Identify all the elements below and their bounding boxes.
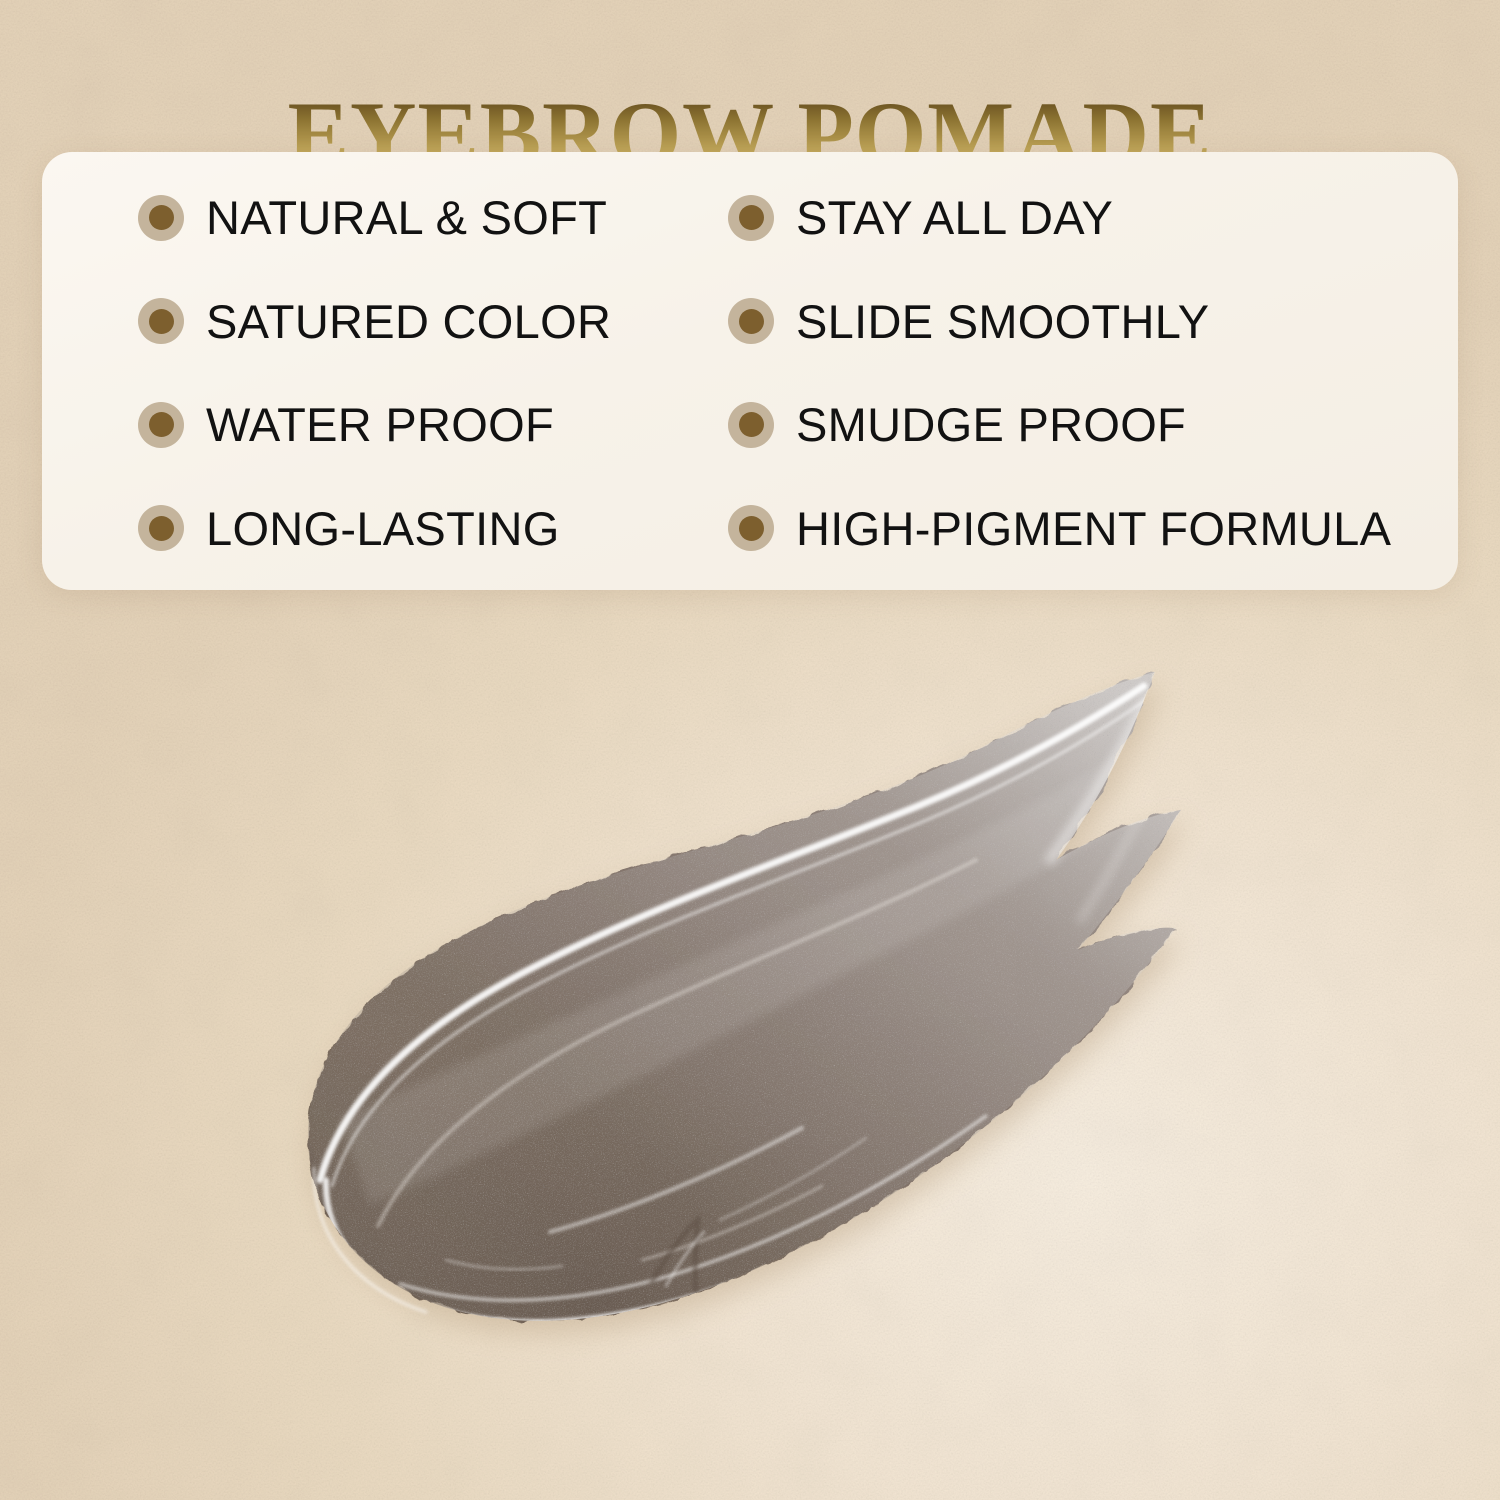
swatch-surface-detail	[250, 620, 1344, 1500]
pomade-cream-swatch	[250, 620, 1310, 1500]
feature-item-high-pigment-formula: HIGH-PIGMENT FORMULA	[654, 501, 1458, 556]
bullet-dot-icon	[728, 298, 774, 344]
bullet-dot-icon	[728, 402, 774, 448]
feature-label: STAY ALL DAY	[796, 190, 1113, 245]
feature-item-long-lasting: LONG-LASTING	[42, 501, 654, 556]
feature-list-card: NATURAL & SOFT STAY ALL DAY SATURED COLO…	[42, 152, 1458, 590]
feature-label: SLIDE SMOOTHLY	[796, 294, 1209, 349]
bullet-dot-icon	[728, 195, 774, 241]
bullet-dot-icon	[138, 402, 184, 448]
feature-label: SATURED COLOR	[206, 294, 611, 349]
product-feature-graphic: EYEBROW POMADE NATURAL & SOFT STAY ALL D…	[0, 0, 1500, 1500]
bullet-dot-icon	[728, 505, 774, 551]
bullet-dot-icon	[138, 505, 184, 551]
feature-label: NATURAL & SOFT	[206, 190, 607, 245]
feature-label: LONG-LASTING	[206, 501, 560, 556]
feature-item-stay-all-day: STAY ALL DAY	[654, 190, 1458, 245]
feature-item-water-proof: WATER PROOF	[42, 397, 654, 452]
feature-grid: NATURAL & SOFT STAY ALL DAY SATURED COLO…	[42, 152, 1458, 590]
feature-label: HIGH-PIGMENT FORMULA	[796, 501, 1391, 556]
feature-item-natural-soft: NATURAL & SOFT	[42, 190, 654, 245]
feature-label: WATER PROOF	[206, 397, 554, 452]
bullet-dot-icon	[138, 195, 184, 241]
feature-item-satured-color: SATURED COLOR	[42, 294, 654, 349]
feature-item-slide-smoothly: SLIDE SMOOTHLY	[654, 294, 1458, 349]
feature-label: SMUDGE PROOF	[796, 397, 1186, 452]
feature-item-smudge-proof: SMUDGE PROOF	[654, 397, 1458, 452]
bullet-dot-icon	[138, 298, 184, 344]
